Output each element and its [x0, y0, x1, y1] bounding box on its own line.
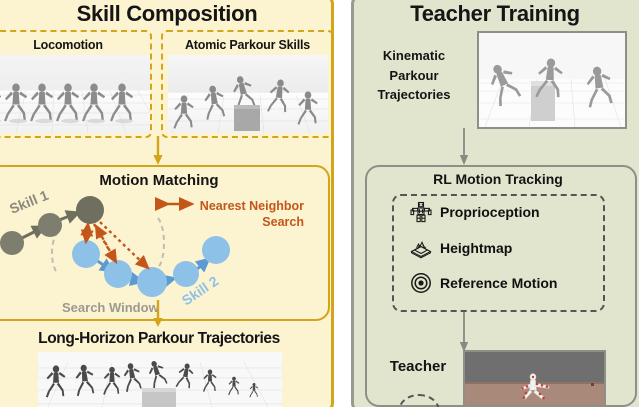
kin-line-3: Trajectories: [358, 85, 470, 105]
teacher-training-title: Teacher Training: [351, 1, 639, 27]
skill-composition-title: Skill Composition: [0, 1, 334, 27]
locomotion-label: Locomotion: [0, 38, 152, 52]
atomic-parkour-skills-label: Atomic Parkour Skills: [161, 38, 334, 52]
atomic-parkour-skills-thumbnail: [168, 55, 328, 133]
motion-matching-title: Motion Matching: [0, 172, 330, 189]
rl-motion-tracking-title: RL Motion Tracking: [365, 171, 631, 187]
bullseye-target-icon: [410, 272, 432, 294]
figure-root: Skill Composition Locomotion Atomic Park…: [0, 0, 639, 407]
search-window-label: Search Window: [62, 300, 160, 315]
nearest-neighbor-search-label: Nearest Neighbor Search: [172, 199, 304, 230]
arrow-kinematic-to-rl: [458, 128, 470, 166]
long-horizon-trajectories-thumbnail: [38, 352, 282, 407]
heightmap-terrain-icon: [410, 237, 432, 259]
long-horizon-trajectories-title: Long-Horizon Parkour Trajectories: [0, 330, 330, 348]
teacher-label: Teacher: [381, 358, 455, 375]
observation-proprioception-label: Proprioception: [440, 204, 540, 220]
kinematic-parkour-trajectories-label: Kinematic Parkour Trajectories: [358, 46, 470, 105]
arrow-inputs-to-motion-matching: [152, 136, 164, 166]
locomotion-thumbnail: [0, 55, 150, 133]
skill1-label: Skill 1: [7, 188, 51, 217]
observation-reference-motion-label: Reference Motion: [440, 275, 557, 291]
arrow-motion-matching-to-output: [152, 300, 164, 328]
kin-line-2: Parkour: [358, 66, 470, 86]
humanoid-figure-icon: [410, 201, 432, 223]
observation-heightmap-label: Heightmap: [440, 240, 512, 256]
arrow-rl-to-teacher: [458, 312, 470, 354]
observation-heightmap: Heightmap: [410, 237, 512, 259]
kinematic-parkour-thumbnail: [477, 31, 627, 129]
kin-line-1: Kinematic: [358, 46, 470, 66]
teacher-sim-thumbnail: [463, 350, 606, 407]
observation-reference-motion: Reference Motion: [410, 272, 557, 294]
observation-proprioception: Proprioception: [410, 201, 540, 223]
